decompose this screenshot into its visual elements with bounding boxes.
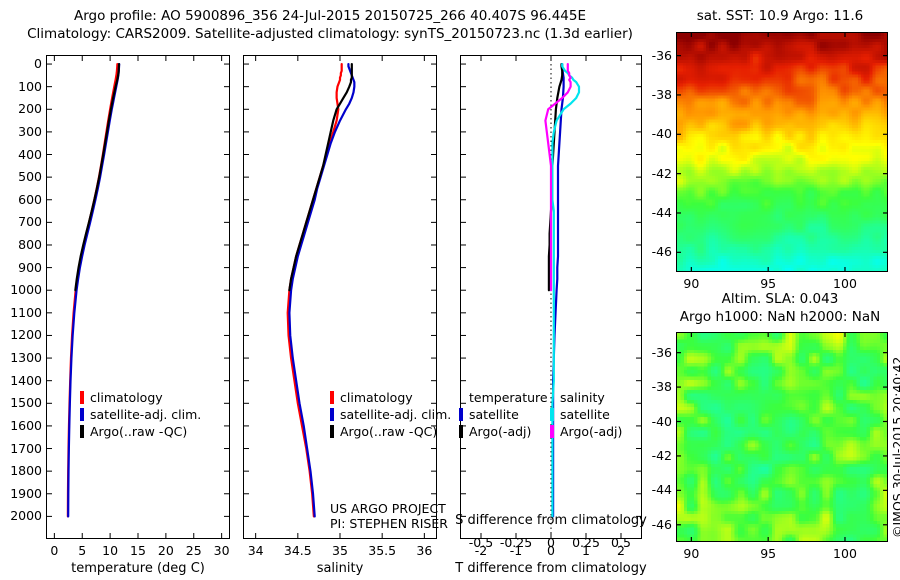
salinity-panel: salinity 3434.53535.536climatologysatell… xyxy=(230,0,445,580)
temperature-axis-label: temperature (deg C) xyxy=(36,561,240,576)
legend-color-swatch xyxy=(80,425,84,438)
sst-map-lat-tick-label: -46 xyxy=(640,244,672,259)
temperature-panel: temperature (deg C) 01002003004005006007… xyxy=(0,0,230,580)
sla-map-lat-tick-label: -38 xyxy=(640,379,672,394)
depth-tick-label: 800 xyxy=(0,237,42,252)
depth-tick-label: 100 xyxy=(0,79,42,94)
temperature-plot-area xyxy=(46,55,230,539)
depth-tick-label: 1500 xyxy=(0,395,42,410)
depth-tick-label: 900 xyxy=(0,260,42,275)
difference-panel: S difference from climatology T differen… xyxy=(445,0,660,580)
depth-tick-label: 600 xyxy=(0,192,42,207)
sla-map-panel: Altim. SLA: 0.043 Argo h1000: NaN h2000:… xyxy=(660,290,900,580)
depth-tick-label: 300 xyxy=(0,124,42,139)
sst-map-panel: sat. SST: 10.9 Argo: 11.6 9095100-36-38-… xyxy=(660,0,900,300)
depth-tick-label: 1600 xyxy=(0,418,42,433)
legend-item: satellite-adj. clim. xyxy=(330,407,451,422)
sla-map-lat-tick-label: -44 xyxy=(640,482,672,497)
series-climatology xyxy=(288,64,342,516)
legend-label: Argo(-adj) xyxy=(560,424,622,439)
depth-tick-label: 700 xyxy=(0,214,42,229)
legend-item: climatology xyxy=(330,390,413,405)
depth-tick-label: 1100 xyxy=(0,305,42,320)
legend-color-swatch xyxy=(330,408,334,421)
difference-axis-label-top: S difference from climatology xyxy=(449,513,653,528)
legend-label: satellite xyxy=(469,407,519,422)
sst-map-image xyxy=(677,33,887,271)
sst-map-lat-tick-label: -40 xyxy=(640,126,672,141)
depth-tick-label: 2000 xyxy=(0,508,42,523)
legend-item: climatology xyxy=(80,390,163,405)
sst-map-lat-tick-label: -38 xyxy=(640,87,672,102)
legend-color-swatch xyxy=(550,425,554,438)
sst-map-lat-tick-label: -36 xyxy=(640,48,672,63)
legend-item: Argo(..raw -QC) xyxy=(80,424,187,439)
difference-axis-label-bottom: T difference from climatology xyxy=(449,561,653,576)
sla-map-frame xyxy=(676,332,888,542)
sla-map-lon-tick-label: 90 xyxy=(666,546,716,561)
principal-investigator-label: PI: STEPHEN RISER xyxy=(330,516,448,531)
sst-map-lon-tick-label: 95 xyxy=(743,276,793,291)
sla-map-lon-tick-label: 95 xyxy=(743,546,793,561)
depth-tick-label: 1800 xyxy=(0,463,42,478)
legend-label: satellite xyxy=(560,407,610,422)
sst-map-lon-tick-label: 90 xyxy=(666,276,716,291)
legend-label: satellite-adj. clim. xyxy=(90,407,201,422)
sla-map-lat-tick-label: -42 xyxy=(640,448,672,463)
series-satellite-adj-clim- xyxy=(289,64,354,516)
legend-item: Argo(..raw -QC) xyxy=(330,424,437,439)
sla-map-lat-tick-label: -46 xyxy=(640,517,672,532)
legend-label: satellite-adj. clim. xyxy=(340,407,451,422)
depth-tick-label: 1700 xyxy=(0,441,42,456)
legend-color-swatch xyxy=(459,408,463,421)
sla-map-lon-tick-label: 100 xyxy=(820,546,870,561)
difference-plot-area xyxy=(460,55,642,539)
legend-color-swatch xyxy=(459,425,463,438)
sla-map-title-line1: Altim. SLA: 0.043 xyxy=(660,291,900,307)
legend-color-swatch xyxy=(330,425,334,438)
legend-item: satellite-adj. clim. xyxy=(80,407,201,422)
us-argo-project-label: US ARGO PROJECT xyxy=(330,501,446,516)
depth-tick-label: 1400 xyxy=(0,373,42,388)
salinity-plot-area xyxy=(243,55,437,539)
sla-map-lat-tick-label: -36 xyxy=(640,345,672,360)
legend-color-swatch xyxy=(550,408,554,421)
sst-map-title: sat. SST: 10.9 Argo: 11.6 xyxy=(660,8,900,24)
sst-map-frame xyxy=(676,32,888,272)
legend-label: Argo(..raw -QC) xyxy=(90,424,187,439)
legend-group-title: temperature xyxy=(469,390,548,405)
legend-label: climatology xyxy=(340,390,413,405)
depth-tick-label: 1300 xyxy=(0,350,42,365)
sst-map-lon-tick-label: 100 xyxy=(820,276,870,291)
depth-tick-label: 200 xyxy=(0,101,42,116)
legend-label: Argo(..raw -QC) xyxy=(340,424,437,439)
sst-map-lat-tick-label: -42 xyxy=(640,166,672,181)
legend-group-title: salinity xyxy=(560,390,605,405)
depth-tick-label: 400 xyxy=(0,147,42,162)
legend-item: satellite xyxy=(459,407,519,422)
x-tick-label-top: 0.5 xyxy=(591,535,651,550)
sla-map-title-line2: Argo h1000: NaN h2000: NaN xyxy=(656,309,900,325)
depth-tick-label: 1200 xyxy=(0,327,42,342)
legend-item: Argo(-adj) xyxy=(459,424,531,439)
depth-tick-label: 1000 xyxy=(0,282,42,297)
sla-map-image xyxy=(677,333,887,541)
depth-tick-label: 500 xyxy=(0,169,42,184)
sla-map-lat-tick-label: -40 xyxy=(640,414,672,429)
legend-color-swatch xyxy=(330,391,334,404)
depth-tick-label: 1900 xyxy=(0,486,42,501)
legend-item: satellite xyxy=(550,407,610,422)
legend-color-swatch xyxy=(80,408,84,421)
salinity-axis-label: salinity xyxy=(238,561,442,576)
copyright-label: ©IMOS 30-Jul-2015 20:40:42 xyxy=(890,357,900,538)
depth-tick-label: 0 xyxy=(0,56,42,71)
sst-map-lat-tick-label: -44 xyxy=(640,205,672,220)
legend-label: Argo(-adj) xyxy=(469,424,531,439)
legend-item: Argo(-adj) xyxy=(550,424,622,439)
legend-color-swatch xyxy=(80,391,84,404)
legend-label: climatology xyxy=(90,390,163,405)
